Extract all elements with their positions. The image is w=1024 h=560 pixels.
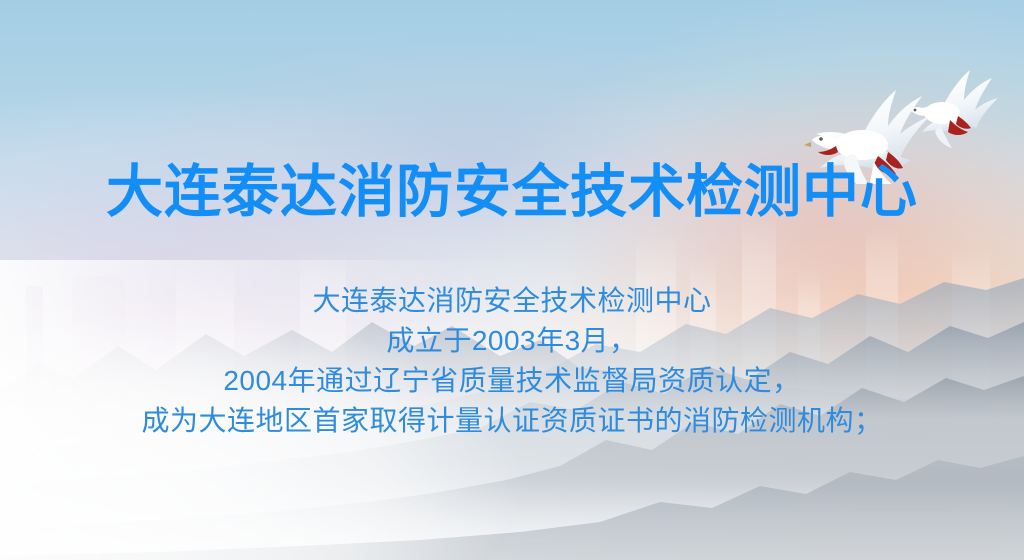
description-line: 成立于2003年3月，	[0, 321, 1024, 361]
description-line: 2004年通过辽宁省质量技术监督局资质认定，	[0, 361, 1024, 401]
banner-description: 大连泰达消防安全技术检测中心 成立于2003年3月， 2004年通过辽宁省质量技…	[0, 281, 1024, 441]
hero-banner: 大连泰达消防安全技术检测中心 大连泰达消防安全技术检测中心 成立于2003年3月…	[0, 0, 1024, 560]
description-line: 大连泰达消防安全技术检测中心	[0, 281, 1024, 321]
page-title: 大连泰达消防安全技术检测中心	[0, 164, 1024, 221]
banner-content: 大连泰达消防安全技术检测中心 大连泰达消防安全技术检测中心 成立于2003年3月…	[0, 0, 1024, 560]
description-line: 成为大连地区首家取得计量认证资质证书的消防检测机构；	[0, 401, 1024, 441]
